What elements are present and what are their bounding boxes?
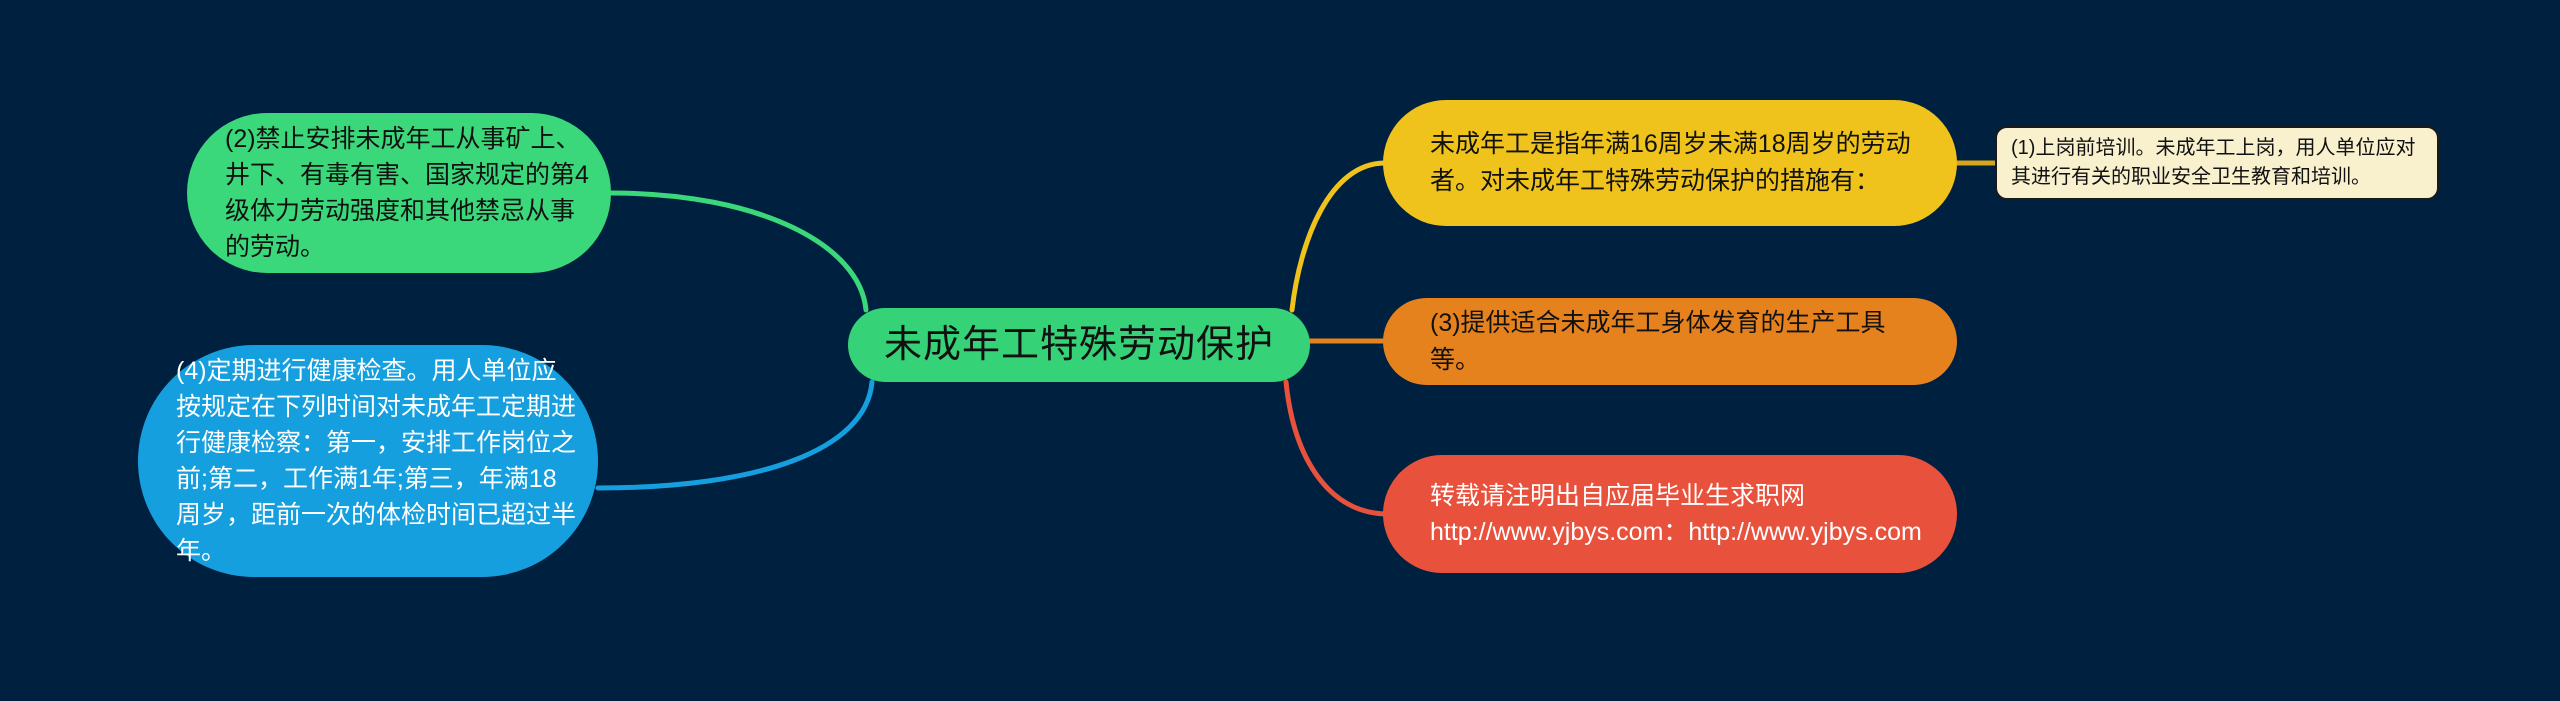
branch-label-orange-3: (3)提供适合未成年工身体发育的生产工具等。 (1430, 305, 1935, 379)
leaf-node-cream-1[interactable]: (1)上岗前培训。未成年工上岗，用人单位应对其进行有关的职业安全卫生教育和培训。 (1995, 126, 2439, 200)
branch-node-orange-3[interactable]: (3)提供适合未成年工身体发育的生产工具等。 (1383, 298, 1957, 385)
mindmap-canvas: (2)禁止安排未成年工从事矿上、井下、有毒有害、国家规定的第4级体力劳动强度和其… (0, 0, 2560, 701)
branch-label-red-credit: 转载请注明出自应届毕业生求职网 http://www.yjbys.com：htt… (1430, 478, 1935, 550)
branch-label-blue-4: (4)定期进行健康检查。用人单位应按规定在下列时间对未成年工定期进行健康检察：第… (176, 353, 580, 569)
branch-node-yellow-intro[interactable]: 未成年工是指年满16周岁未满18周岁的劳动者。对未成年工特殊劳动保护的措施有： (1383, 100, 1957, 226)
root-node-label: 未成年工特殊劳动保护 (848, 323, 1310, 367)
root-node[interactable]: 未成年工特殊劳动保护 (848, 308, 1310, 382)
edge-root-to-yellow (1292, 163, 1385, 310)
leaf-label-cream-1: (1)上岗前培训。未成年工上岗，用人单位应对其进行有关的职业安全卫生教育和培训。 (2011, 134, 2425, 192)
branch-node-green-2[interactable]: (2)禁止安排未成年工从事矿上、井下、有毒有害、国家规定的第4级体力劳动强度和其… (187, 113, 611, 273)
branch-label-yellow-intro: 未成年工是指年满16周岁未满18周岁的劳动者。对未成年工特殊劳动保护的措施有： (1430, 126, 1935, 200)
branch-label-green-2: (2)禁止安排未成年工从事矿上、井下、有毒有害、国家规定的第4级体力劳动强度和其… (225, 121, 593, 265)
edge-root-to-red (1286, 382, 1388, 514)
branch-node-red-credit[interactable]: 转载请注明出自应届毕业生求职网 http://www.yjbys.com：htt… (1383, 455, 1957, 573)
edge-root-to-green (611, 193, 866, 310)
branch-node-blue-4[interactable]: (4)定期进行健康检查。用人单位应按规定在下列时间对未成年工定期进行健康检察：第… (138, 345, 598, 577)
edge-root-to-blue (598, 382, 872, 488)
